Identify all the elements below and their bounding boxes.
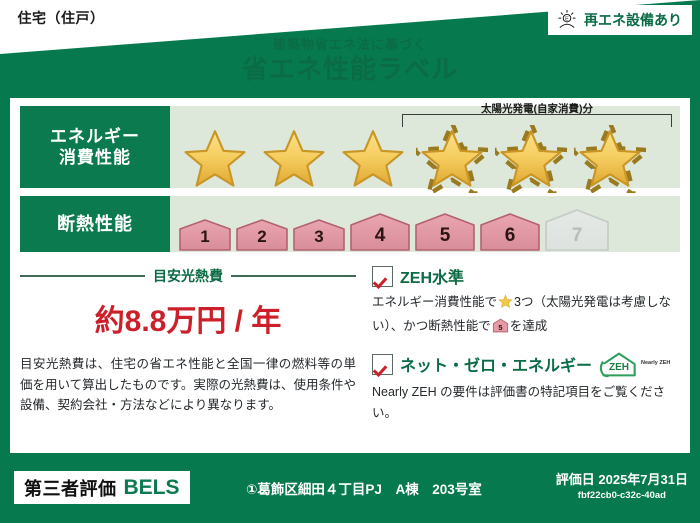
utility-cost-note: 目安光熱費は、住宅の省エネ性能と全国一律の燃料等の単価を用いて算出したものです。… (20, 354, 356, 416)
zeh-standard-item: ZEH水準 エネルギー消費性能で3つ（太陽光発電は考慮しない）、かつ断熱性能で5… (372, 264, 680, 341)
insulation-level-number: 4 (375, 225, 386, 252)
building-type-tab: 住宅（住戸） (0, 0, 122, 36)
label-title-block: 建築物省エネ法に基づく 省エネ性能ラベル (0, 38, 700, 85)
insulation-level-5: 5 (414, 212, 476, 252)
house-5-icon: 5 (492, 318, 509, 340)
insulation-level-number: 7 (572, 225, 583, 252)
insulation-level-number: 3 (314, 227, 323, 252)
net-zero-energy-item: ネット・ゼロ・エネルギー ZEH Nearly ZEH Nearly ZEH の… (372, 351, 680, 425)
property-address: ①葛飾区細田４丁目PJ A棟 203号室 (246, 478, 482, 498)
star-filled-1 (176, 124, 254, 194)
net-zero-energy-body: Nearly ZEH の要件は評価書の特記項目をご覧ください。 (372, 382, 680, 425)
insulation-level-3: 3 (292, 218, 346, 252)
building-type-label: 住宅（住戸） (18, 8, 105, 28)
evaluation-info: 評価日 2025年7月31日 fbf22cb0-c32c-40ad (556, 469, 688, 501)
energy-performance-label: エネルギー 消費性能 (20, 106, 170, 188)
star-icon (179, 125, 251, 193)
zeh-standard-body: エネルギー消費性能で3つ（太陽光発電は考慮しない）、かつ断熱性能で5を達成 (372, 292, 680, 341)
evaluation-date: 評価日 2025年7月31日 (556, 469, 688, 488)
rule-right (231, 275, 356, 277)
zeh-standard-checkbox (372, 266, 393, 287)
net-zero-energy-head: ネット・ゼロ・エネルギー ZEH Nearly ZEH (372, 351, 680, 378)
zeh-house-logo: ZEH Nearly ZEH (599, 351, 670, 378)
insulation-performance-label: 断熱性能 (20, 196, 170, 252)
rule-left (20, 275, 145, 277)
insulation-level-2: 2 (235, 218, 289, 252)
insulation-level-scale: 1234567 (170, 196, 680, 252)
zeh-body-post: を達成 (510, 319, 548, 333)
insulation-level-1: 1 (178, 218, 232, 252)
renewable-badge-label: 再エネ設備あり (584, 10, 682, 30)
net-zero-energy-checkbox (372, 354, 393, 375)
svg-text:E: E (565, 16, 569, 22)
utility-cost-value: 約8.8万円 / 年 (20, 296, 356, 340)
star-icon (574, 125, 646, 193)
zeh-column: ZEH水準 エネルギー消費性能で3つ（太陽光発電は考慮しない）、かつ断熱性能で5… (356, 264, 680, 430)
energy-performance-row: エネルギー 消費性能 太陽光発電(自家消費)分 (20, 106, 680, 188)
star-icon (337, 125, 409, 193)
insulation-level-6: 6 (479, 212, 541, 252)
main-card: エネルギー 消費性能 太陽光発電(自家消費)分 断熱性能 1234567 (10, 98, 690, 453)
insulation-level-7: 7 (544, 208, 610, 252)
star-filled-2 (255, 124, 333, 194)
star-icon (258, 125, 330, 193)
title-subtitle: 建築物省エネ法に基づく (0, 38, 700, 51)
utility-cost-heading: 目安光熱費 (20, 266, 356, 286)
bels-jp-label: 第三者評価 (24, 475, 117, 501)
sun-icon: E (556, 9, 578, 31)
bels-certification-box: 第三者評価 BELS (14, 471, 190, 504)
utility-cost-column: 目安光熱費 約8.8万円 / 年 目安光熱費は、住宅の省エネ性能と全国一律の燃料… (20, 264, 356, 430)
zeh-body-pre: エネルギー消費性能で (372, 295, 497, 309)
bels-en-label: BELS (124, 476, 180, 500)
insulation-level-number: 5 (440, 225, 451, 252)
energy-label-line1: エネルギー (50, 126, 140, 147)
star-solar-5 (492, 124, 570, 194)
star-icon (416, 125, 488, 193)
star-solar-4 (413, 124, 491, 194)
star-solar-6 (571, 124, 649, 194)
zeh-standard-title: ZEH水準 (400, 264, 464, 288)
insulation-label-text: 断熱性能 (57, 213, 133, 236)
star-filled-3 (334, 124, 412, 194)
insulation-performance-row: 断熱性能 1234567 (20, 196, 680, 252)
insulation-level-4: 4 (349, 212, 411, 252)
insulation-level-number: 2 (257, 227, 266, 252)
insulation-performance-body: 1234567 (170, 196, 680, 252)
zeh-standard-head: ZEH水準 (372, 264, 680, 288)
lower-section: 目安光熱費 約8.8万円 / 年 目安光熱費は、住宅の省エネ性能と全国一律の燃料… (20, 264, 680, 430)
utility-cost-heading-text: 目安光熱費 (153, 266, 223, 286)
zeh-logo-sub: Nearly ZEH (641, 361, 670, 367)
svg-text:5: 5 (498, 323, 502, 332)
insulation-level-number: 1 (200, 227, 209, 252)
footer: 第三者評価 BELS ①葛飾区細田４丁目PJ A棟 203号室 評価日 2025… (0, 461, 700, 523)
evaluation-id: fbf22cb0-c32c-40ad (556, 490, 688, 501)
bels-energy-label: 住宅（住戸） E 再エネ設備あり 建築物省エネ法に基づく 省エネ性能ラベル (0, 0, 700, 523)
insulation-level-number: 6 (505, 225, 516, 252)
star-icon (498, 294, 513, 316)
renewable-equipment-badge: E 再エネ設備あり (548, 5, 692, 35)
star-icon (495, 125, 567, 193)
svg-text:ZEH: ZEH (609, 362, 629, 373)
page-title: 省エネ性能ラベル (0, 55, 700, 85)
energy-label-line2: 消費性能 (50, 147, 140, 168)
energy-performance-body: 太陽光発電(自家消費)分 (170, 106, 680, 188)
net-zero-energy-title: ネット・ゼロ・エネルギー (400, 352, 592, 376)
